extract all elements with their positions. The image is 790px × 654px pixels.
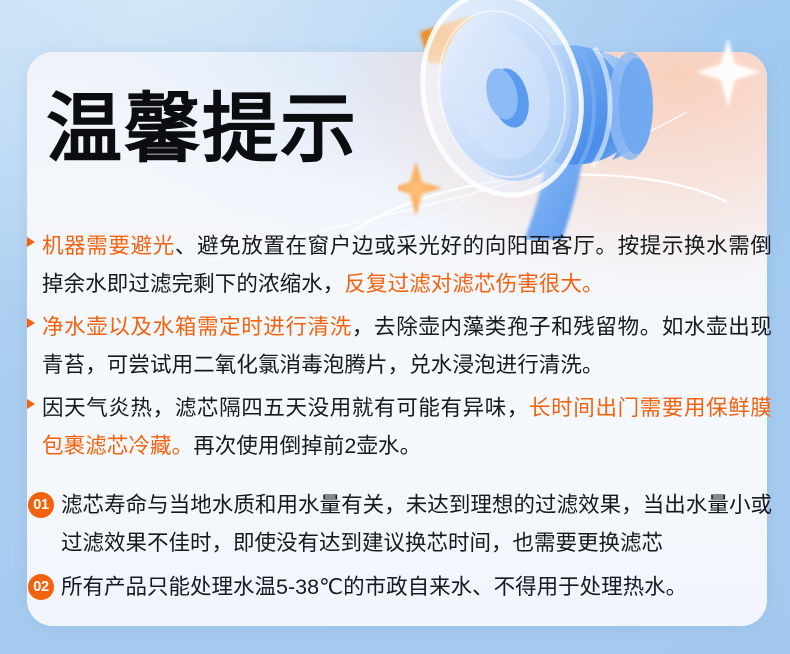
bullet-text: 因天气炎热，滤芯隔四五天没用就有可能有异味，长时间出门需要用保鲜膜包裹滤芯冷藏。… [42, 390, 772, 465]
bullet-text: 机器需要避光、避免放置在窗户边或采光好的向阳面客厅。按提示换水需倒掉余水即过滤完… [42, 228, 772, 303]
list-item: 01 滤芯寿命与当地水质和用水量有关，未达到理想的过滤效果，当出水量小或过滤效果… [27, 487, 772, 562]
bullet-segment: 再次使用倒掉前2壶水。 [193, 434, 421, 458]
number-badge: 02 [28, 574, 54, 600]
bullet-segment-highlight: 净水壶以及水箱需定时进行清洗 [42, 315, 352, 339]
bullet-segment-highlight: 机器需要避光 [42, 234, 175, 258]
note-text: 所有产品只能处理水温5-38℃的市政自来水、不得用于处理热水。 [61, 569, 772, 607]
bullet-text: 净水壶以及水箱需定时进行清洗，去除壶内藻类孢子和残留物。如水壶出现青苔，可尝试用… [42, 309, 772, 384]
page-title: 温馨提示 [46, 82, 358, 178]
numbered-notes-list: 01 滤芯寿命与当地水质和用水量有关，未达到理想的过滤效果，当出水量小或过滤效果… [27, 487, 772, 614]
list-item: 净水壶以及水箱需定时进行清洗，去除壶内藻类孢子和残留物。如水壶出现青苔，可尝试用… [27, 309, 772, 384]
list-item: 02 所有产品只能处理水温5-38℃的市政自来水、不得用于处理热水。 [27, 569, 772, 607]
triangle-bullet-icon [27, 399, 35, 409]
list-item: 机器需要避光、避免放置在窗户边或采光好的向阳面客厅。按提示换水需倒掉余水即过滤完… [27, 228, 772, 303]
triangle-bullet-icon [27, 318, 35, 328]
tips-bullet-list: 机器需要避光、避免放置在窗户边或采光好的向阳面客厅。按提示换水需倒掉余水即过滤完… [27, 228, 772, 471]
bullet-segment-highlight: 反复过滤对滤芯伤害很大。 [344, 272, 603, 296]
bullet-segment: 因天气炎热，滤芯隔四五天没用就有可能有异味， [42, 396, 529, 420]
triangle-bullet-icon [27, 237, 35, 247]
number-badge: 01 [28, 492, 54, 518]
list-item: 因天气炎热，滤芯隔四五天没用就有可能有异味，长时间出门需要用保鲜膜包裹滤芯冷藏。… [27, 390, 772, 465]
note-text: 滤芯寿命与当地水质和用水量有关，未达到理想的过滤效果，当出水量小或过滤效果不佳时… [61, 487, 772, 562]
tips-poster: 温馨提示 机器需要避光、避免放置在窗户边或采光好的向阳面客厅。按提示换水需倒掉余… [0, 0, 790, 654]
